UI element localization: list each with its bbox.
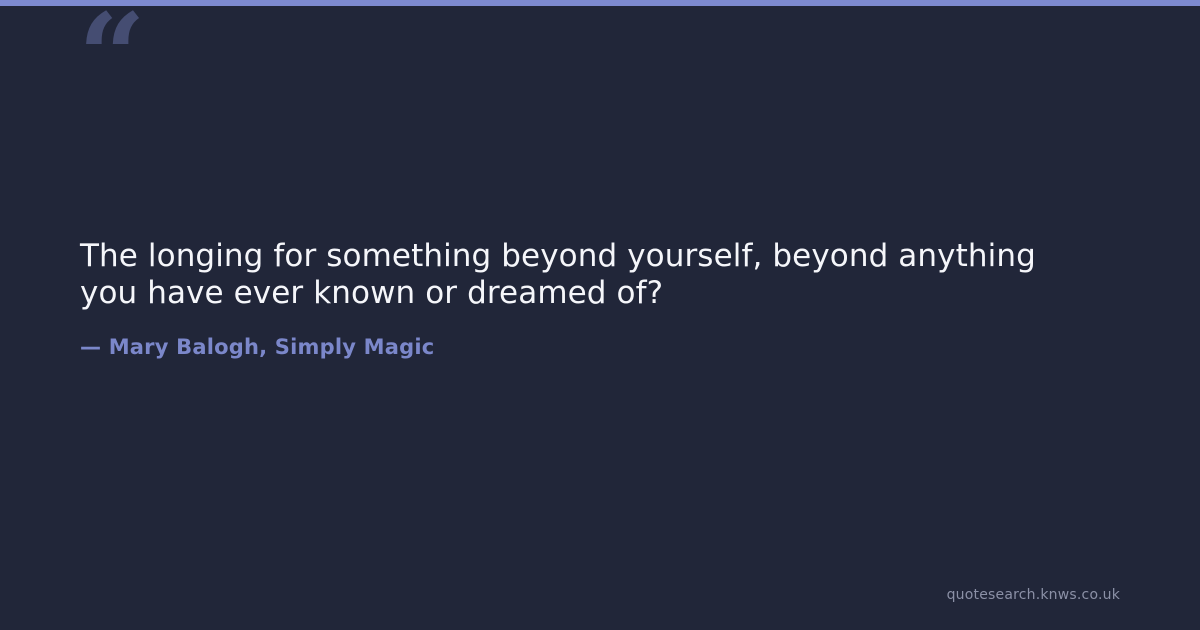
site-watermark: quotesearch.knws.co.uk bbox=[947, 586, 1120, 604]
quote-content: The longing for something beyond yoursel… bbox=[80, 238, 1120, 360]
top-accent-bar bbox=[0, 0, 1200, 6]
quote-text: The longing for something beyond yoursel… bbox=[80, 238, 1080, 312]
quote-attribution: — Mary Balogh, Simply Magic bbox=[80, 312, 1120, 360]
quote-card: “ The longing for something beyond yours… bbox=[0, 0, 1200, 630]
quotation-mark-icon: “ bbox=[78, 0, 144, 116]
